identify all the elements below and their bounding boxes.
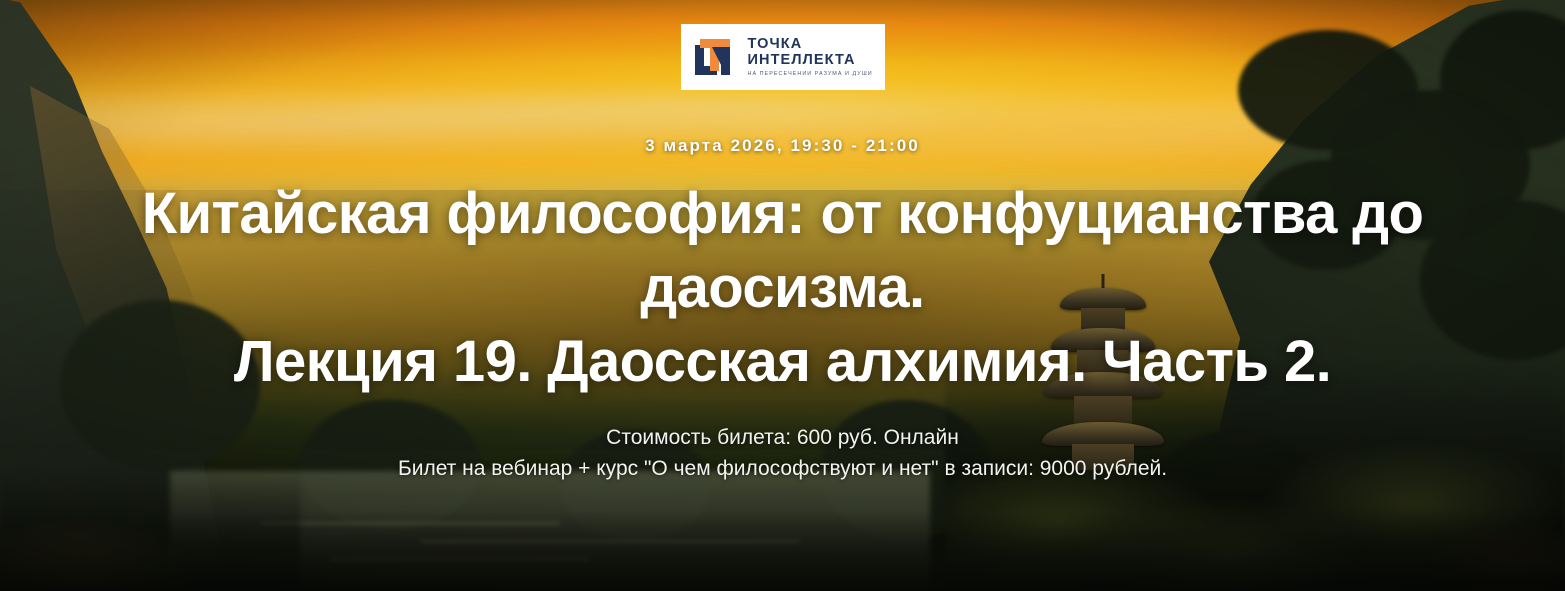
logo-t-i-monogram-icon (691, 35, 739, 79)
logo-wordmark: ТОЧКА ИНТЕЛЛЕКТА НА ПЕРЕСЕЧЕНИИ РАЗУМА И… (748, 37, 873, 78)
logo-line-1: ТОЧКА (748, 37, 873, 52)
logo-tagline: НА ПЕРЕСЕЧЕНИИ РАЗУМА И ДУШИ (748, 71, 873, 78)
event-datetime: 3 марта 2026, 19:30 - 21:00 (645, 136, 920, 156)
event-banner: ТОЧКА ИНТЕЛЛЕКТА НА ПЕРЕСЕЧЕНИИ РАЗУМА И… (0, 0, 1565, 591)
ticket-price-online: Стоимость билета: 600 руб. Онлайн (398, 423, 1167, 453)
banner-content: ТОЧКА ИНТЕЛЛЕКТА НА ПЕРЕСЕЧЕНИИ РАЗУМА И… (0, 0, 1565, 591)
logo-line-2: ИНТЕЛЛЕКТА (748, 53, 873, 68)
event-title-line-2: даосизма. (113, 251, 1453, 325)
pricing-block: Стоимость билета: 600 руб. Онлайн Билет … (398, 423, 1167, 484)
event-title-line-3: Лекция 19. Даосская алхимия. Часть 2. (113, 325, 1453, 399)
brand-logo[interactable]: ТОЧКА ИНТЕЛЛЕКТА НА ПЕРЕСЕЧЕНИИ РАЗУМА И… (681, 24, 885, 90)
ticket-price-bundle: Билет на вебинар + курс "О чем философст… (398, 453, 1167, 484)
event-title-line-1: Китайская философия: от конфуцианства до (142, 181, 1424, 246)
event-title: Китайская философия: от конфуцианства до… (113, 177, 1453, 399)
